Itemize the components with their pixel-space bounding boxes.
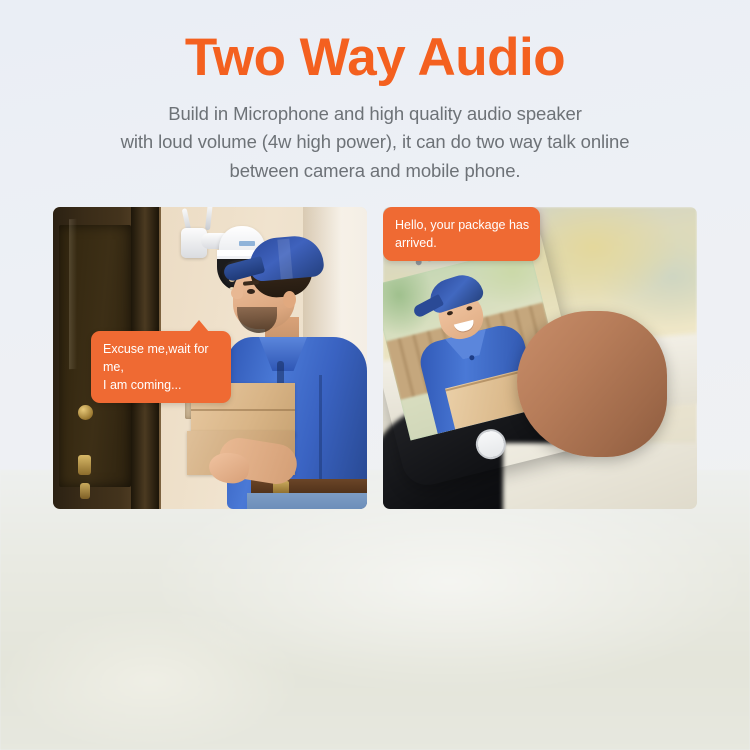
page-title: Two Way Audio <box>0 30 750 86</box>
page-subtitle: Build in Microphone and high quality aud… <box>0 100 750 186</box>
palm <box>517 311 667 457</box>
photo-panels: Excuse me,wait for me, I am coming... <box>53 207 697 509</box>
nose <box>231 287 243 299</box>
hand-holding-phone <box>501 285 697 509</box>
header: Two Way Audio Build in Microphone and hi… <box>0 30 750 186</box>
ear <box>283 291 296 308</box>
bubble-line-1: Excuse me,wait for me, <box>103 340 220 376</box>
bubble-line-1: Hello, your package has <box>395 216 529 234</box>
door-lock <box>78 455 91 475</box>
photo-phone-video-call-scene: Hello, your package has arrived. <box>383 207 697 509</box>
subtitle-line-1: Build in Microphone and high quality aud… <box>0 100 750 129</box>
subtitle-line-2: with loud volume (4w high power), it can… <box>0 128 750 157</box>
door-knob <box>78 405 93 420</box>
bubble-line-2: I am coming... <box>103 376 220 394</box>
bubble-tail <box>189 320 209 332</box>
sleeve-seam <box>319 375 322 485</box>
eye <box>247 289 255 294</box>
door-deadbolt <box>80 483 90 499</box>
jeans <box>247 493 367 509</box>
subtitle-line-3: between camera and mobile phone. <box>0 157 750 186</box>
bubble-line-2: arrived. <box>395 234 529 252</box>
photo-doorway-camera-scene: Excuse me,wait for me, I am coming... <box>53 207 367 509</box>
page-background-bottom-photo <box>0 470 750 750</box>
speech-bubble-courier: Hello, your package has arrived. <box>383 207 540 261</box>
speech-bubble-visitor: Excuse me,wait for me, I am coming... <box>91 331 231 403</box>
blue-cap <box>247 234 324 282</box>
